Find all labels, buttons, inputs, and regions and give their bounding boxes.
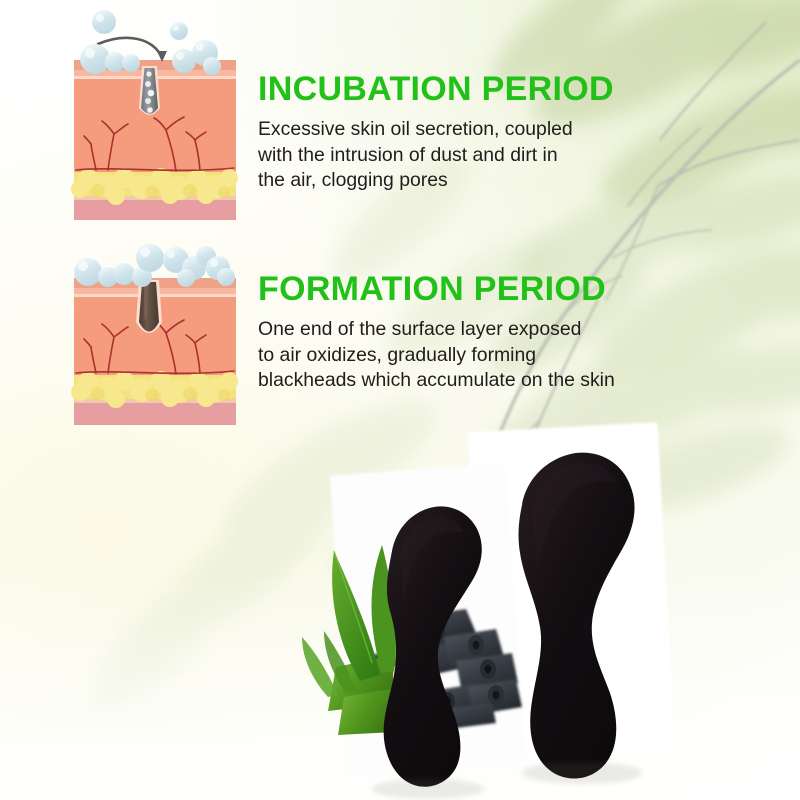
body-line: to air oxidizes, gradually forming (258, 343, 615, 369)
body-line: blackheads which accumulate on the skin (258, 368, 615, 394)
body-formation: One end of the surface layer exposed to … (258, 317, 615, 395)
body-incubation: Excessive skin oil secretion, coupled wi… (258, 117, 614, 195)
skin-cross-section-clogged-pore-diagram (66, 4, 244, 226)
skin-cross-section-blackhead-diagram (66, 236, 244, 432)
body-line: the air, clogging pores (258, 168, 614, 194)
body-line: with the intrusion of dust and dirt in (258, 143, 614, 169)
heading-incubation: INCUBATION PERIOD (258, 72, 614, 107)
section-incubation: INCUBATION PERIOD Excessive skin oil sec… (258, 72, 614, 194)
heading-formation: FORMATION PERIOD (258, 272, 615, 307)
product-photo-charcoal-nose-strips (300, 405, 800, 800)
body-line: One end of the surface layer exposed (258, 317, 615, 343)
clogged-pore (139, 66, 160, 117)
blackhead-plug (136, 280, 162, 333)
infographic-page: INCUBATION PERIOD Excessive skin oil sec… (0, 0, 800, 800)
body-line: Excessive skin oil secretion, coupled (258, 117, 614, 143)
section-formation: FORMATION PERIOD One end of the surface … (258, 272, 615, 394)
